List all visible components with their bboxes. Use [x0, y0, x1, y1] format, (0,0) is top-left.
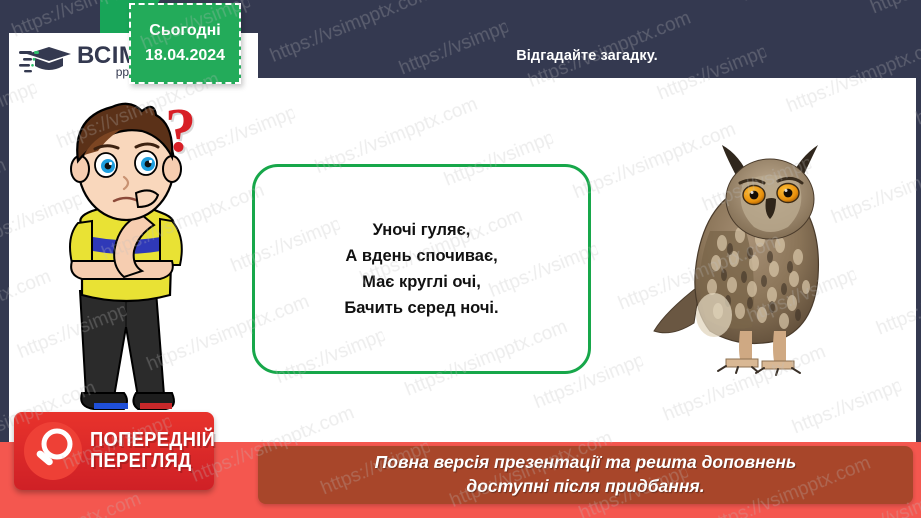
presentation-slide: ВСІМ pptx Сьогодні 18.04.2024 Відгадайте… — [0, 0, 921, 518]
preview-button[interactable]: ПОПЕРЕДНІЙ ПЕРЕГЛЯД — [14, 412, 214, 490]
magnifier-icon — [24, 422, 82, 480]
riddle-line-1: Уночі гуляє, — [344, 217, 498, 243]
graduation-cap-icon — [19, 41, 75, 81]
page-title: Відгадайте загадку. — [516, 48, 658, 64]
riddle-lines: Уночі гуляє, А вдень спочиває, Має кругл… — [344, 217, 498, 321]
riddle-line-4: Бачить серед ночі. — [344, 295, 498, 321]
purchase-notice-banner: Повна версія презентації та решта доповн… — [258, 446, 913, 504]
riddle-line-3: Має круглі очі, — [344, 269, 498, 295]
preview-button-labels: ПОПЕРЕДНІЙ ПЕРЕГЛЯД — [90, 430, 226, 472]
owl-image — [648, 135, 878, 380]
slide-title-bar: Відгадайте загадку. — [258, 33, 916, 78]
date-badge: Сьогодні 18.04.2024 — [129, 3, 241, 84]
preview-button-line-1: ПОПЕРЕДНІЙ — [90, 430, 215, 451]
right-border-strip — [916, 0, 921, 518]
left-border-strip — [0, 0, 9, 518]
preview-button-line-2: ПЕРЕГЛЯД — [90, 451, 215, 472]
eagle-owl-graphic — [648, 135, 878, 380]
riddle-line-2: А вдень спочиває, — [344, 243, 498, 269]
riddle-text-box: Уночі гуляє, А вдень спочиває, Має кругл… — [252, 164, 591, 374]
question-mark-icon: ? — [165, 100, 196, 162]
notice-line-1: Повна версія презентації та решта доповн… — [375, 451, 797, 475]
date-badge-value: 18.04.2024 — [145, 44, 225, 69]
notice-line-2: доступні після придбання. — [466, 475, 704, 499]
date-badge-label: Сьогодні — [149, 19, 220, 44]
